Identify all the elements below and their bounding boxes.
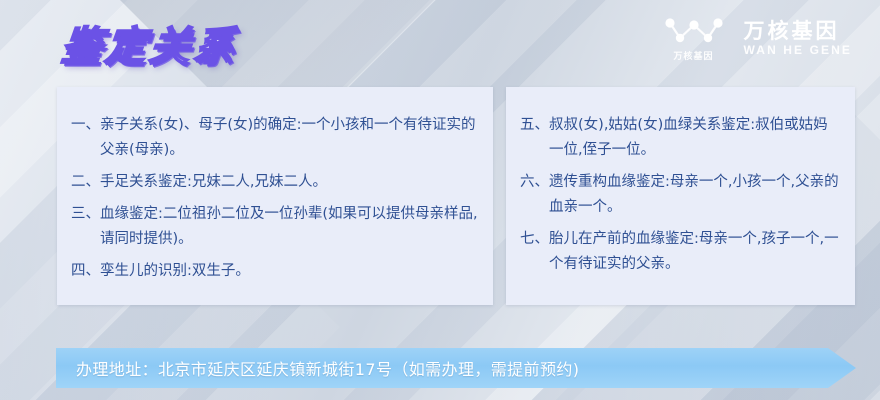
- list-item: 六、 遗传重构血缘鉴定:母亲一个,小孩一个,父亲的血亲一个。: [520, 170, 841, 220]
- list-item-number: 七、: [520, 227, 549, 252]
- logo-mark-label: 万核基因: [674, 49, 714, 62]
- list-item-text: 胎儿在产前的血缘鉴定:母亲一个,孩子一个,一个有待证实的父亲。: [549, 227, 841, 277]
- brand-logo: 万核基因 万核基因 WAN HE GENE: [662, 16, 852, 62]
- list-item-number: 二、: [71, 170, 100, 195]
- relationship-list-left: 一、 亲子关系(女)、母子(女)的确定:一个小孩和一个有待证实的父亲(母亲)。 …: [57, 87, 493, 284]
- relationship-list-panel-left: 一、 亲子关系(女)、母子(女)的确定:一个小孩和一个有待证实的父亲(母亲)。 …: [57, 87, 493, 305]
- list-item-number: 三、: [71, 202, 100, 227]
- address-ribbon: 办理地址：北京市延庆区延庆镇新城街17号（如需办理，需提前预约): [56, 348, 856, 388]
- list-item-text: 遗传重构血缘鉴定:母亲一个,小孩一个,父亲的血亲一个。: [549, 170, 841, 220]
- list-item-text: 手足关系鉴定:兄妹二人,兄妹二人。: [100, 170, 479, 195]
- molecule-node-icon: [662, 16, 726, 46]
- address-text: 办理地址：北京市延庆区延庆镇新城街17号（如需办理，需提前预约): [56, 356, 579, 380]
- list-item-number: 六、: [520, 170, 549, 195]
- list-item-number: 四、: [71, 259, 100, 284]
- list-item-text: 叔叔(女),姑姑(女)血绿关系鉴定:叔伯或姑妈一位,侄子一位。: [549, 113, 841, 163]
- list-item: 二、 手足关系鉴定:兄妹二人,兄妹二人。: [71, 170, 479, 195]
- list-item-number: 一、: [71, 113, 100, 138]
- list-item: 三、 血缘鉴定:二位祖孙二位及一位孙辈(如果可以提供母亲样品,请同时提供)。: [71, 202, 479, 252]
- list-item-text: 亲子关系(女)、母子(女)的确定:一个小孩和一个有待证实的父亲(母亲)。: [100, 113, 479, 163]
- list-item: 一、 亲子关系(女)、母子(女)的确定:一个小孩和一个有待证实的父亲(母亲)。: [71, 113, 479, 163]
- list-item-number: 五、: [520, 113, 549, 138]
- relationship-list-panel-right: 五、 叔叔(女),姑姑(女)血绿关系鉴定:叔伯或姑妈一位,侄子一位。 六、 遗传…: [506, 87, 855, 305]
- page-title: 鉴定关系: [59, 14, 241, 72]
- list-item: 四、 孪生儿的识别:双生子。: [71, 259, 479, 284]
- brand-wordmark: 万核基因 WAN HE GENE: [744, 20, 852, 57]
- list-item: 五、 叔叔(女),姑姑(女)血绿关系鉴定:叔伯或姑妈一位,侄子一位。: [520, 113, 841, 163]
- list-item-text: 血缘鉴定:二位祖孙二位及一位孙辈(如果可以提供母亲样品,请同时提供)。: [100, 202, 479, 252]
- brand-name-en: WAN HE GENE: [744, 44, 852, 57]
- list-item: 七、 胎儿在产前的血缘鉴定:母亲一个,孩子一个,一个有待证实的父亲。: [520, 227, 841, 277]
- relationship-list-right: 五、 叔叔(女),姑姑(女)血绿关系鉴定:叔伯或姑妈一位,侄子一位。 六、 遗传…: [506, 87, 855, 277]
- list-item-text: 孪生儿的识别:双生子。: [100, 259, 479, 284]
- poster-canvas: 鉴定关系: [0, 0, 880, 400]
- logo-mark: 万核基因: [662, 16, 726, 62]
- brand-name-cn: 万核基因: [744, 20, 852, 43]
